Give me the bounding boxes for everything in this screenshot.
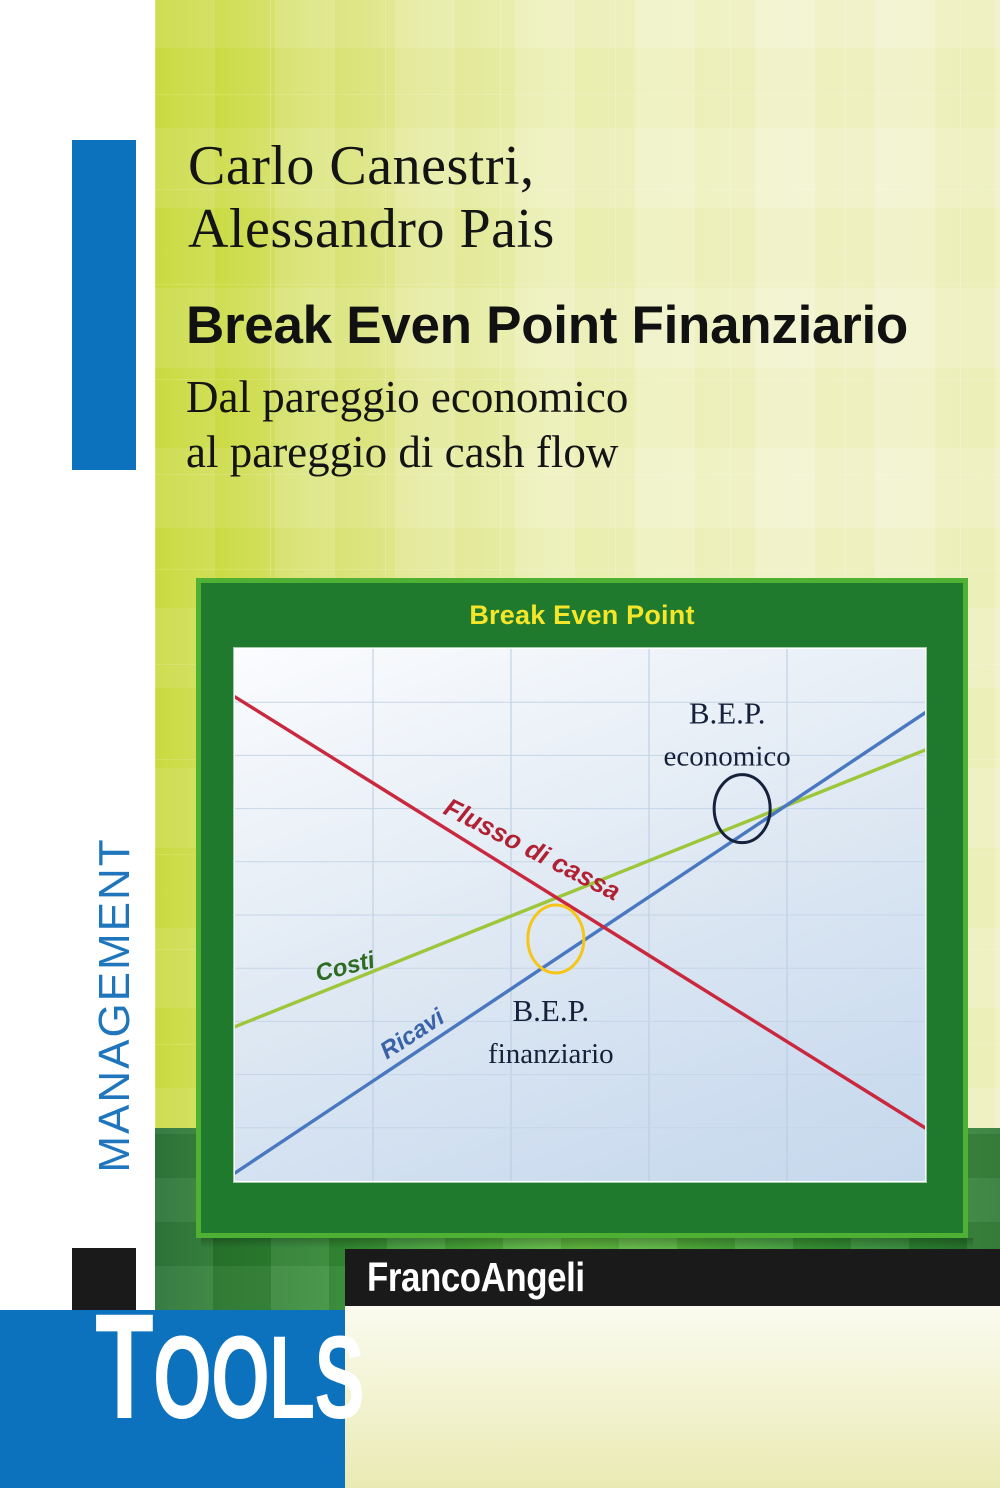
series-label-vertical: MANAGEMENT (60, 770, 170, 1240)
chart-svg: CostiRicaviFlusso di cassa B.E.P.economi… (235, 649, 925, 1181)
chart-gridlines (235, 649, 925, 1181)
authors: Carlo Canestri, Alessandro Pais (188, 135, 948, 260)
collection-initial: T (95, 1283, 153, 1451)
series-label-text: MANAGEMENT (90, 837, 140, 1172)
svg-text:B.E.P.: B.E.P. (513, 993, 590, 1028)
subtitle-line-2: al pareggio di cash flow (186, 425, 976, 480)
book-cover: MANAGEMENT TOOLS Carlo Canestri, Alessan… (0, 0, 1000, 1488)
subtitle-line-1: Dal pareggio economico (186, 370, 976, 425)
svg-text:finanziario: finanziario (488, 1038, 614, 1070)
chart-title: Break Even Point (196, 600, 968, 631)
author-line-1: Carlo Canestri, (188, 135, 948, 198)
author-line-2: Alessandro Pais (188, 198, 948, 261)
collection-rest: OOLS (153, 1311, 364, 1444)
blue-accent-bar-top (72, 140, 136, 470)
publisher-bar: FrancoAngeli (345, 1249, 1000, 1306)
publisher-name: FrancoAngeli (367, 1254, 585, 1301)
page-title: Break Even Point Finanziario (186, 295, 976, 356)
collection-label: TOOLS (95, 1292, 364, 1442)
footer-pale-strip (345, 1305, 1000, 1488)
chart-plot-area: CostiRicaviFlusso di cassa B.E.P.economi… (234, 648, 926, 1182)
chart-series-lines (235, 697, 925, 1173)
svg-text:B.E.P.: B.E.P. (689, 696, 766, 731)
subtitle: Dal pareggio economico al pareggio di ca… (186, 370, 976, 480)
chart-figure: Break Even Point CostiRicaviFlusso di ca… (196, 578, 968, 1238)
svg-text:economico: economico (664, 741, 791, 773)
